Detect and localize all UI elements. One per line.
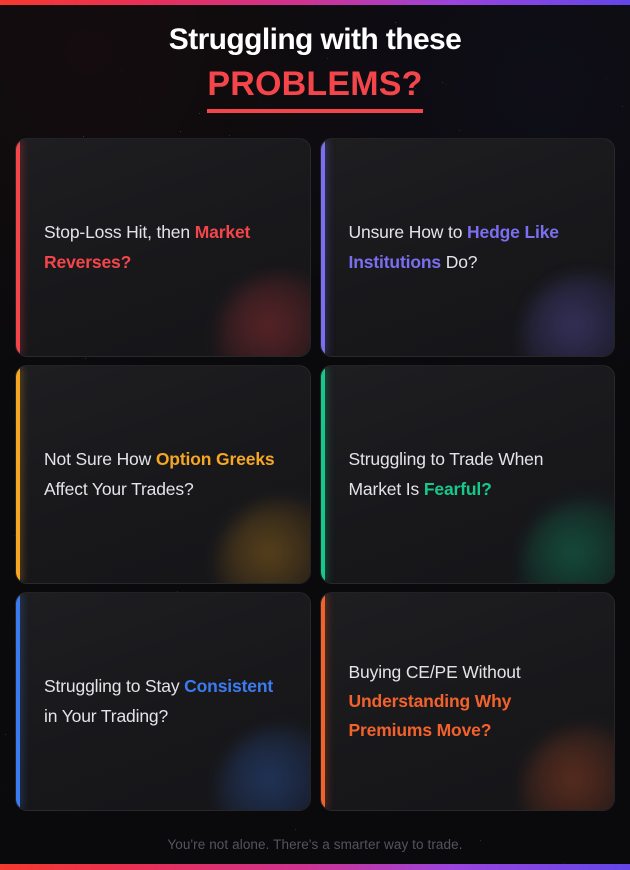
headline-line-1: Struggling with these bbox=[0, 22, 630, 57]
card-text-highlight: Consistent bbox=[184, 676, 273, 696]
bottom-gradient-rail bbox=[0, 864, 630, 870]
card-text-plain: Buying CE/PE Without bbox=[349, 662, 521, 682]
problem-card-stop-loss[interactable]: Stop-Loss Hit, then Market Reverses? bbox=[15, 138, 311, 357]
card-text-plain: Stop-Loss Hit, then bbox=[44, 222, 195, 242]
card-accent-bar bbox=[321, 366, 325, 583]
background-speck bbox=[83, 136, 84, 137]
card-accent-bar bbox=[16, 366, 20, 583]
card-text-plain: Struggling to Stay bbox=[44, 676, 184, 696]
background-speck bbox=[459, 130, 460, 131]
problem-card-consistency[interactable]: Struggling to Stay Consistent in Your Tr… bbox=[15, 592, 311, 811]
poster-canvas: Struggling with these PROBLEMS? Stop-Los… bbox=[0, 0, 630, 870]
page-title: Struggling with these PROBLEMS? bbox=[0, 22, 630, 113]
card-question-text: Not Sure How Option Greeks Affect Your T… bbox=[44, 445, 284, 503]
problem-card-option-greeks[interactable]: Not Sure How Option Greeks Affect Your T… bbox=[15, 365, 311, 584]
card-question-text: Unsure How to Hedge Like Institutions Do… bbox=[349, 218, 589, 276]
card-corner-glow bbox=[218, 728, 311, 811]
background-speck bbox=[180, 131, 181, 132]
background-speck bbox=[295, 829, 296, 830]
card-text-highlight: Option Greeks bbox=[156, 449, 275, 469]
background-speck bbox=[229, 135, 230, 136]
card-corner-glow bbox=[218, 274, 311, 357]
headline-line-2-underlined: PROBLEMS? bbox=[207, 65, 422, 113]
card-question-text: Struggling to Stay Consistent in Your Tr… bbox=[44, 672, 284, 730]
card-question-text: Struggling to Trade When Market Is Fearf… bbox=[349, 445, 589, 503]
card-question-text: Stop-Loss Hit, then Market Reverses? bbox=[44, 218, 284, 276]
card-text-plain: in Your Trading? bbox=[44, 706, 168, 726]
card-corner-glow bbox=[522, 274, 615, 357]
card-text-plain: Affect Your Trades? bbox=[44, 479, 194, 499]
problem-card-grid: Stop-Loss Hit, then Market Reverses?Unsu… bbox=[15, 138, 615, 811]
card-corner-glow bbox=[522, 501, 615, 584]
problem-card-fearful-market[interactable]: Struggling to Trade When Market Is Fearf… bbox=[320, 365, 616, 584]
footer-tagline: You're not alone. There's a smarter way … bbox=[0, 837, 630, 852]
background-speck bbox=[5, 734, 6, 735]
card-accent-bar bbox=[321, 139, 325, 356]
card-accent-bar bbox=[321, 593, 325, 810]
card-corner-glow bbox=[218, 501, 311, 584]
problem-card-premium-moves[interactable]: Buying CE/PE Without Understanding Why P… bbox=[320, 592, 616, 811]
card-text-plain: Do? bbox=[446, 252, 478, 272]
card-text-plain: Not Sure How bbox=[44, 449, 156, 469]
card-question-text: Buying CE/PE Without Understanding Why P… bbox=[349, 658, 589, 745]
problem-card-hedging[interactable]: Unsure How to Hedge Like Institutions Do… bbox=[320, 138, 616, 357]
card-text-plain: Unsure How to bbox=[349, 222, 468, 242]
top-gradient-rail bbox=[0, 0, 630, 5]
card-accent-bar bbox=[16, 139, 20, 356]
card-text-highlight: Fearful? bbox=[424, 479, 492, 499]
background-speck bbox=[2, 789, 3, 790]
card-accent-bar bbox=[16, 593, 20, 810]
card-text-highlight: Understanding Why Premiums Move? bbox=[349, 691, 512, 740]
